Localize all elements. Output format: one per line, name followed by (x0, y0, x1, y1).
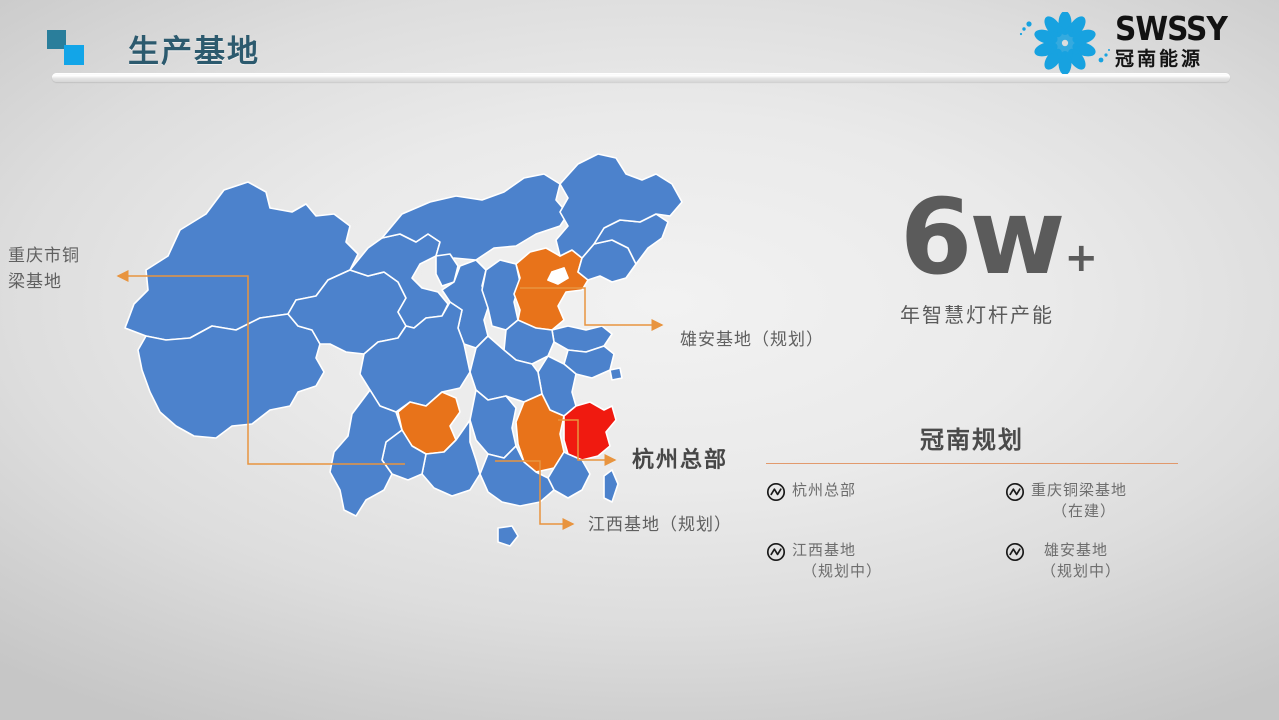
slide-canvas: 生产基地 (0, 0, 1279, 720)
province-taiwan (604, 470, 618, 502)
brand-logo: SWSSY 冠南能源 (1019, 8, 1269, 78)
plan-panel: 冠南规划 杭州总部 重庆铜梁基地 （在建） (766, 420, 1178, 582)
circle-wave-icon (766, 542, 786, 562)
province-zhejiang-hq (564, 402, 616, 460)
plan-item-xiongan-text: 雄安基地 （规划中） (1031, 540, 1121, 582)
plan-item-xiongan-status: （规划中） (1031, 561, 1121, 582)
map-label-chongqing-line1: 重庆市铜 (8, 243, 118, 269)
province-hainan (498, 526, 518, 546)
plan-item-xiongan[interactable]: 雄安基地 （规划中） (977, 540, 1178, 582)
china-map-svg (120, 130, 700, 570)
plan-item-hangzhou-label: 杭州总部 (792, 482, 856, 499)
capacity-plus: + (1064, 235, 1098, 281)
province-shanghai (610, 368, 622, 380)
circle-wave-icon (1005, 482, 1025, 502)
page-title: 生产基地 (128, 26, 260, 71)
plan-item-chongqing[interactable]: 重庆铜梁基地 （在建） (977, 480, 1178, 522)
plan-item-jiangxi-text: 江西基地 （规划中） (792, 540, 882, 582)
capacity-number: 6w (900, 185, 1062, 289)
map-label-hangzhou: 杭州总部 (632, 447, 728, 473)
map-label-jiangxi: 江西基地（规划） (588, 512, 732, 538)
capacity-stat-row: 6w+ (900, 185, 1098, 289)
map-label-xiongan: 雄安基地（规划） (680, 327, 824, 353)
plan-item-chongqing-label: 重庆铜梁基地 (1031, 482, 1127, 499)
plan-item-jiangxi-label: 江西基地 (792, 542, 856, 559)
plan-item-chongqing-status: （在建） (1031, 501, 1127, 522)
plan-item-hangzhou[interactable]: 杭州总部 (766, 480, 967, 522)
circle-wave-icon (766, 482, 786, 502)
china-map (120, 130, 700, 570)
map-label-chongqing: 重庆市铜 梁基地 (8, 243, 118, 295)
circle-wave-icon (1005, 542, 1025, 562)
plan-item-jiangxi-status: （规划中） (792, 561, 882, 582)
province-hunan (470, 390, 516, 458)
plan-item-xiongan-label: 雄安基地 (1044, 542, 1108, 559)
plan-item-chongqing-text: 重庆铜梁基地 （在建） (1031, 480, 1127, 522)
plan-item-jiangxi[interactable]: 江西基地 （规划中） (766, 540, 967, 582)
plan-item-grid: 杭州总部 重庆铜梁基地 （在建） 江西基地 (766, 480, 1178, 582)
capacity-caption: 年智慧灯杆产能 (900, 299, 1098, 328)
capacity-stat: 6w+ 年智慧灯杆产能 (900, 185, 1098, 328)
plan-title: 冠南规划 (766, 420, 1178, 455)
plan-divider (766, 463, 1178, 464)
logo-wordmark: SWSSY (1115, 12, 1227, 46)
logo-text-block: SWSSY 冠南能源 (1115, 12, 1227, 73)
logo-chinese-name: 冠南能源 (1115, 47, 1227, 73)
swssy-flower-emblem-icon (1019, 12, 1111, 74)
header-square-light (64, 45, 84, 65)
map-label-chongqing-line2: 梁基地 (8, 269, 118, 295)
plan-item-hangzhou-text: 杭州总部 (792, 480, 856, 501)
